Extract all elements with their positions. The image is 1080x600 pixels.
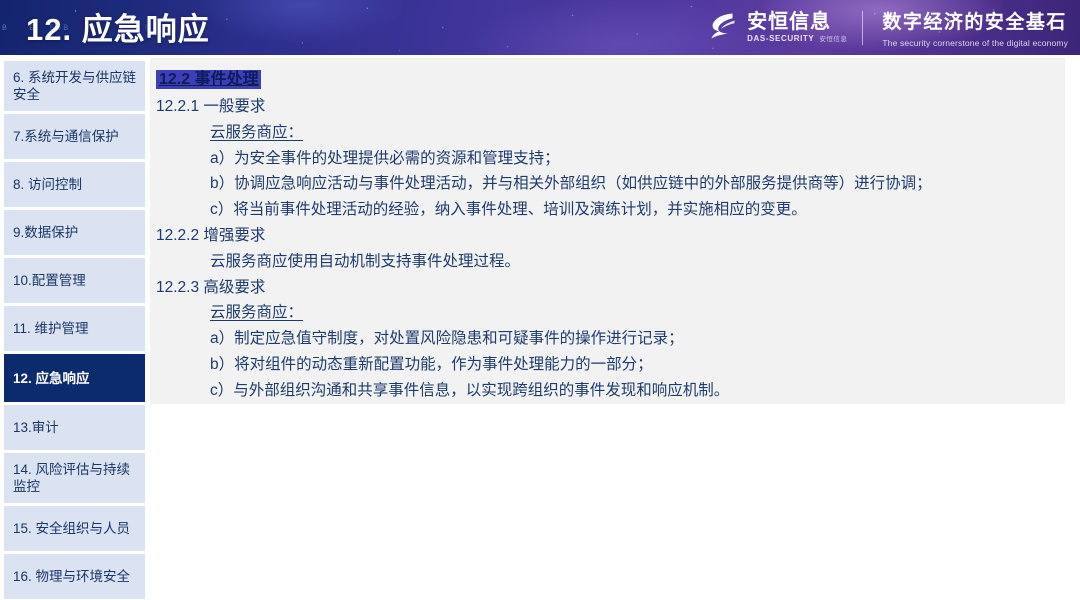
brand-divider	[862, 11, 863, 45]
content-line-text: 12.2.3 高级要求	[156, 279, 265, 296]
brand-abbr-cn: 安恒信息	[819, 37, 847, 44]
content-bullet: c）将当前事件处理活动的经验，纳入事件处理、培训及演练计划，并实施相应的变更。	[150, 197, 1065, 223]
content-bullet: b）将对组件的动态重新配置功能，作为事件处理能力的一部分；	[150, 352, 1065, 378]
content-line-text: 12.2.1 一般要求	[156, 98, 265, 115]
content-bullet: a）制定应急值守制度，对处置风险隐患和可疑事件的操作进行记录；	[150, 326, 1065, 352]
content-heading: 12.2 事件处理	[150, 67, 1065, 93]
brand-slogan-cn: 数字经济的安全基石	[882, 7, 1068, 34]
sidebar-item-label: 12. 应急响应	[13, 370, 90, 387]
brand-slogan-en: The security cornerstone of the digital …	[882, 38, 1068, 48]
content-lead-in: 云服务商应：	[150, 120, 1065, 146]
content-line-text: 云服务商应：	[210, 124, 303, 141]
brand-name-block: 安恒信息 DAS-SECURITY 安恒信息	[747, 12, 847, 44]
sidebar-item-label: 14. 风险评估与持续监控	[13, 461, 136, 495]
content-line-text: a）制定应急值守制度，对处置风险隐患和可疑事件的操作进行记录；	[210, 330, 684, 347]
sidebar-item-15[interactable]: 15. 安全组织与人员	[4, 506, 145, 551]
sidebar-item-9[interactable]: 9.数据保护	[4, 210, 145, 255]
brand-name: 安恒信息	[747, 12, 847, 32]
brand-lockup: 安恒信息 DAS-SECURITY 安恒信息 数字经济的安全基石 The sec…	[708, 5, 1068, 50]
content-line-text: c）将当前事件处理活动的经验，纳入事件处理、培训及演练计划，并实施相应的变更。	[210, 201, 807, 218]
content-bullet: a）为安全事件的处理提供必需的资源和管理支持；	[150, 146, 1065, 172]
content-body: 12.2.1 一般要求云服务商应：a）为安全事件的处理提供必需的资源和管理支持；…	[150, 94, 1065, 404]
content-bullet: c）与外部组织沟通和共享事件信息，以实现跨组织的事件发现和响应机制。	[150, 378, 1065, 404]
slide-header: B E 55B D 1 0 C A F 0 9A 2 F 0 41 C3 B F…	[0, 0, 1080, 55]
page-title: 12. 应急响应	[26, 4, 210, 49]
sidebar-item-11[interactable]: 11. 维护管理	[4, 306, 145, 351]
content-bullet: b）协调应急响应活动与事件处理活动，并与相关外部组织（如供应链中的外部服务提供商…	[150, 171, 1065, 197]
sidebar-item-label: 15. 安全组织与人员	[13, 520, 130, 537]
sidebar-item-label: 8. 访问控制	[13, 176, 82, 193]
sidebar-item-label: 10.配置管理	[13, 272, 86, 289]
sidebar-item-6[interactable]: 6. 系统开发与供应链安全	[4, 61, 145, 111]
content-subsection-heading: 12.2.2 增强要求	[150, 223, 1065, 249]
sidebar-item-12[interactable]: 12. 应急响应	[4, 354, 145, 402]
sidebar-item-label: 13.审计	[13, 419, 59, 436]
brand-abbr-en: DAS-SECURITY	[747, 35, 814, 43]
content-heading-text: 12.2 事件处理	[156, 70, 261, 89]
das-security-logo-icon	[708, 11, 738, 44]
content-line-text: b）将对组件的动态重新配置功能，作为事件处理能力的一部分；	[210, 356, 653, 373]
sidebar-item-label: 16. 物理与环境安全	[13, 568, 130, 585]
content-line-text: 云服务商应使用自动机制支持事件处理过程。	[210, 253, 520, 270]
sidebar-item-8[interactable]: 8. 访问控制	[4, 162, 145, 207]
content-paragraph: 云服务商应使用自动机制支持事件处理过程。	[150, 249, 1065, 275]
sidebar-item-label: 7.系统与通信保护	[13, 128, 119, 145]
content-panel: 12.2 事件处理 12.2.1 一般要求云服务商应：a）为安全事件的处理提供必…	[150, 58, 1065, 404]
content-line-text: 云服务商应：	[210, 304, 303, 321]
sidebar-nav: 6. 系统开发与供应链安全7.系统与通信保护8. 访问控制9.数据保护10.配置…	[0, 58, 148, 600]
content-line-text: 12.2.2 增强要求	[156, 227, 265, 244]
sidebar-item-14[interactable]: 14. 风险评估与持续监控	[4, 453, 145, 503]
sidebar-item-13[interactable]: 13.审计	[4, 405, 145, 450]
slide: B E 55B D 1 0 C A F 0 9A 2 F 0 41 C3 B F…	[0, 0, 1080, 600]
sidebar-item-10[interactable]: 10.配置管理	[4, 258, 145, 303]
content-line-text: c）与外部组织沟通和共享事件信息，以实现跨组织的事件发现和响应机制。	[210, 382, 729, 399]
content-subsection-heading: 12.2.1 一般要求	[150, 94, 1065, 120]
content-lead-in: 云服务商应：	[150, 300, 1065, 326]
sidebar-item-7[interactable]: 7.系统与通信保护	[4, 114, 145, 159]
brand-sub-block: DAS-SECURITY 安恒信息	[747, 35, 847, 44]
sidebar-item-label: 9.数据保护	[13, 224, 78, 241]
content-line-text: a）为安全事件的处理提供必需的资源和管理支持；	[210, 150, 560, 167]
content-line-text: b）协调应急响应活动与事件处理活动，并与相关外部组织（如供应链中的外部服务提供商…	[210, 175, 932, 192]
sidebar-item-16[interactable]: 16. 物理与环境安全	[4, 554, 145, 599]
sidebar-item-label: 6. 系统开发与供应链安全	[13, 69, 136, 103]
brand-slogan-block: 数字经济的安全基石 The security cornerstone of th…	[882, 7, 1068, 48]
sidebar-item-label: 11. 维护管理	[13, 320, 89, 337]
content-subsection-heading: 12.2.3 高级要求	[150, 275, 1065, 301]
